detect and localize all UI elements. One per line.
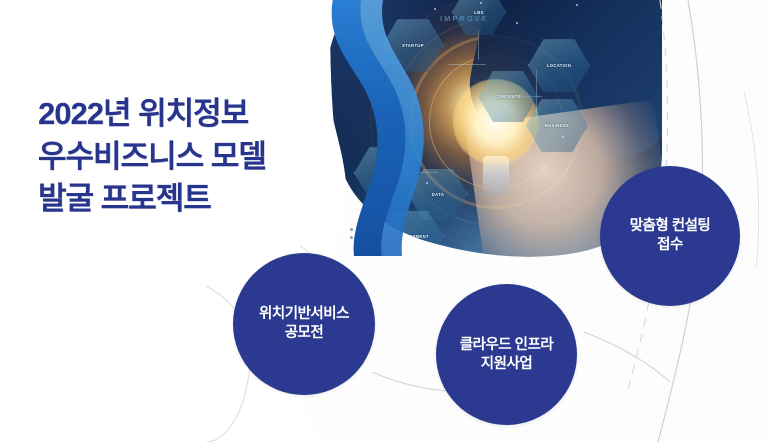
sparkle-dot [516,22,518,24]
hexagon-label: BUSINESS [545,123,569,128]
hexagon-label: DATA [432,192,444,197]
lightbulb-base [483,156,509,196]
accent-dot [350,236,353,239]
badge-cloud-infra-support[interactable]: 클라우드 인프라 지원사업 [436,284,577,425]
hexagon-label: CONTENTS [495,94,521,99]
page-title: 2022년 위치정보 우수비즈니스 모델 발굴 프로젝트 [38,93,266,221]
badge-custom-consulting-reception[interactable]: 맞춤형 컨설팅 접수 [600,166,740,306]
dot-accent-group [350,228,353,244]
promotional-banner: IMPROVE LBS STARTUP LOCATION CONTENTS BU… [0,0,768,442]
hexagon-label: LOCATION [547,63,571,68]
sparkle-dot [562,136,564,138]
blue-curve-ribbon [318,0,428,256]
hex-connector [448,64,486,65]
sparkle-dot [434,8,436,10]
sparkle-dot [576,4,578,6]
badge-location-based-service-contest[interactable]: 위치기반서비스 공모전 [233,253,375,395]
hexagon-label: LBS [474,10,483,15]
sparkle-dot [480,2,482,4]
accent-dot [350,228,353,231]
